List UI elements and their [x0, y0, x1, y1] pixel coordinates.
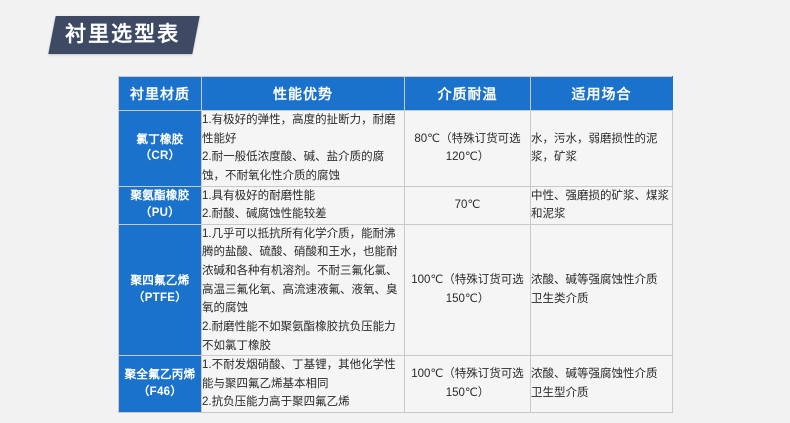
material-code: （F46）	[119, 384, 201, 401]
cell-applications: 浓酸、碱等强腐蚀性介质 卫生型介质	[531, 356, 673, 413]
page-title-badge: 衬里选型表	[48, 16, 199, 54]
table-row: 聚四氟乙烯 （PTFE） 1.几乎可以抵抗所有化学介质，能耐沸腾的盐酸、硫酸、硝…	[119, 224, 673, 355]
table-row: 聚全氟乙丙烯 （F46） 1.不耐发烟硝酸、丁基锂，其他化学性能与聚四氟乙烯基本…	[119, 356, 673, 413]
material-name: 聚四氟乙烯	[119, 273, 201, 290]
column-header-advantages: 性能优势	[202, 77, 405, 111]
application-item: 浓酸、碱等强腐蚀性介质	[531, 271, 672, 290]
table-header: 衬里材质 性能优势 介质耐温 适用场合	[119, 77, 673, 111]
column-header-temperature: 介质耐温	[405, 77, 531, 111]
cell-advantages: 1.不耐发烟硝酸、丁基锂，其他化学性能与聚四氟乙烯基本相同 2.抗负压能力高于聚…	[202, 356, 405, 413]
cell-material: 聚氨酯橡胶 （PU）	[119, 186, 202, 224]
advantage-item: 1.具有极好的耐磨性能	[202, 187, 404, 206]
column-header-material: 衬里材质	[119, 77, 202, 111]
cell-temperature: 80℃（特殊订货可选120℃）	[405, 111, 531, 187]
advantage-item: 2.抗负压能力高于聚四氟乙烯	[202, 393, 404, 412]
cell-advantages: 1.几乎可以抵抗所有化学介质，能耐沸腾的盐酸、硫酸、硝酸和王水，也能耐浓碱和各种…	[202, 224, 405, 355]
cell-material: 聚全氟乙丙烯 （F46）	[119, 356, 202, 413]
table-row: 氯丁橡胶 （CR） 1.有极好的弹性，高度的扯断力，耐磨性能好 2.耐一般低浓度…	[119, 111, 673, 187]
advantage-item: 2.耐酸、碱腐蚀性能较差	[202, 205, 404, 224]
table-body: 氯丁橡胶 （CR） 1.有极好的弹性，高度的扯断力，耐磨性能好 2.耐一般低浓度…	[119, 111, 673, 413]
page-title-container: 衬里选型表	[52, 16, 196, 54]
cell-applications: 水，污水，弱磨损性的泥浆，矿浆	[531, 111, 673, 187]
advantage-item: 1.几乎可以抵抗所有化学介质，能耐沸腾的盐酸、硫酸、硝酸和王水，也能耐浓碱和各种…	[202, 225, 404, 318]
advantage-item: 2.耐磨性能不如聚氨酯橡胶抗负压能力不如氯丁橡胶	[202, 318, 404, 355]
application-item: 水，污水，弱磨损性的泥浆，矿浆	[531, 130, 672, 167]
cell-material: 氯丁橡胶 （CR）	[119, 111, 202, 187]
application-item: 卫生类介质	[531, 290, 672, 309]
application-item: 中性、强磨损的矿浆、煤浆和泥浆	[531, 187, 672, 224]
lining-selection-table-container: 衬里材质 性能优势 介质耐温 适用场合 氯丁橡胶 （CR） 1.有极好的弹性，高…	[118, 76, 672, 413]
cell-applications: 中性、强磨损的矿浆、煤浆和泥浆	[531, 186, 673, 224]
advantage-item: 1.不耐发烟硝酸、丁基锂，其他化学性能与聚四氟乙烯基本相同	[202, 356, 404, 393]
application-item: 卫生型介质	[531, 384, 672, 403]
application-item: 浓酸、碱等强腐蚀性介质	[531, 365, 672, 384]
material-code: （PU）	[119, 205, 201, 222]
cell-advantages: 1.有极好的弹性，高度的扯断力，耐磨性能好 2.耐一般低浓度酸、碱、盐介质的腐蚀…	[202, 111, 405, 187]
table-row: 聚氨酯橡胶 （PU） 1.具有极好的耐磨性能 2.耐酸、碱腐蚀性能较差 70℃ …	[119, 186, 673, 224]
cell-temperature: 100℃（特殊订货可选150℃）	[405, 356, 531, 413]
cell-temperature: 100℃（特殊订货可选150℃）	[405, 224, 531, 355]
material-name: 聚氨酯橡胶	[119, 188, 201, 205]
advantage-item: 2.耐一般低浓度酸、碱、盐介质的腐蚀，不耐氧化性介质的腐蚀	[202, 148, 404, 185]
material-name: 聚全氟乙丙烯	[119, 367, 201, 384]
cell-temperature: 70℃	[405, 186, 531, 224]
material-name: 氯丁橡胶	[119, 132, 201, 149]
material-code: （PTFE）	[119, 290, 201, 307]
cell-advantages: 1.具有极好的耐磨性能 2.耐酸、碱腐蚀性能较差	[202, 186, 405, 224]
cell-material: 聚四氟乙烯 （PTFE）	[119, 224, 202, 355]
column-header-applications: 适用场合	[531, 77, 673, 111]
table-header-row: 衬里材质 性能优势 介质耐温 适用场合	[119, 77, 673, 111]
lining-selection-table: 衬里材质 性能优势 介质耐温 适用场合 氯丁橡胶 （CR） 1.有极好的弹性，高…	[118, 76, 673, 413]
page-title: 衬里选型表	[65, 24, 180, 45]
cell-applications: 浓酸、碱等强腐蚀性介质 卫生类介质	[531, 224, 673, 355]
material-code: （CR）	[119, 148, 201, 165]
advantage-item: 1.有极好的弹性，高度的扯断力，耐磨性能好	[202, 111, 404, 148]
